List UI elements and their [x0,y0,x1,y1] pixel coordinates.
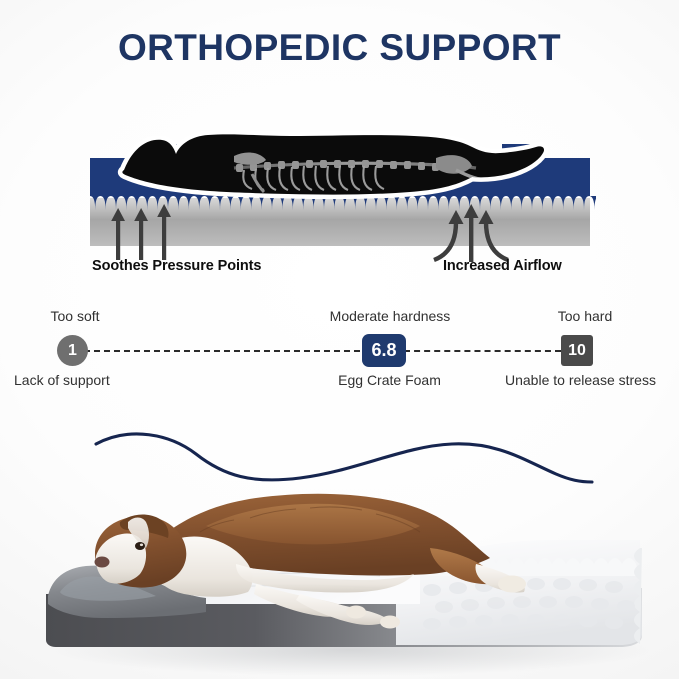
scale-label-too-hard: Too hard [540,306,630,326]
scale-label-moderate: Moderate hardness [310,306,470,326]
scale-marker-1: 1 [57,335,88,366]
scale-marker-10: 10 [561,335,593,366]
product-photo [0,398,679,679]
dog-nose [95,557,110,568]
pressure-arrows [111,204,171,260]
scale-bottom-labels: Lack of support Egg Crate Foam Unable to… [0,370,679,390]
scale-label-too-soft: Too soft [30,306,120,326]
page-title: ORTHOPEDIC SUPPORT [0,26,679,70]
increased-airflow-label: Increased Airflow [443,258,562,274]
scale-top-labels: Too soft Moderate hardness Too hard [0,306,679,326]
scale-sublabel-lack-of-support: Lack of support [14,370,110,390]
wave-line [96,434,592,482]
dog-eye [135,542,145,550]
hardness-scale: Too soft Moderate hardness Too hard 1 6.… [0,306,679,398]
cross-section-diagram: Soothes Pressure Points Increased Airflo… [84,100,596,290]
scale-track: 1 6.8 10 [0,334,679,368]
scale-dash-left [84,350,360,352]
scale-dash-right [404,350,561,352]
infographic-page: ORTHOPEDIC SUPPORT [0,0,679,679]
scale-marker-6-8: 6.8 [362,334,406,367]
soothes-pressure-points-label: Soothes Pressure Points [92,258,261,274]
scale-sublabel-unable-stress: Unable to release stress [505,370,656,390]
scale-sublabel-egg-crate-foam: Egg Crate Foam [322,370,457,390]
dog-hind-paw [498,576,526,593]
